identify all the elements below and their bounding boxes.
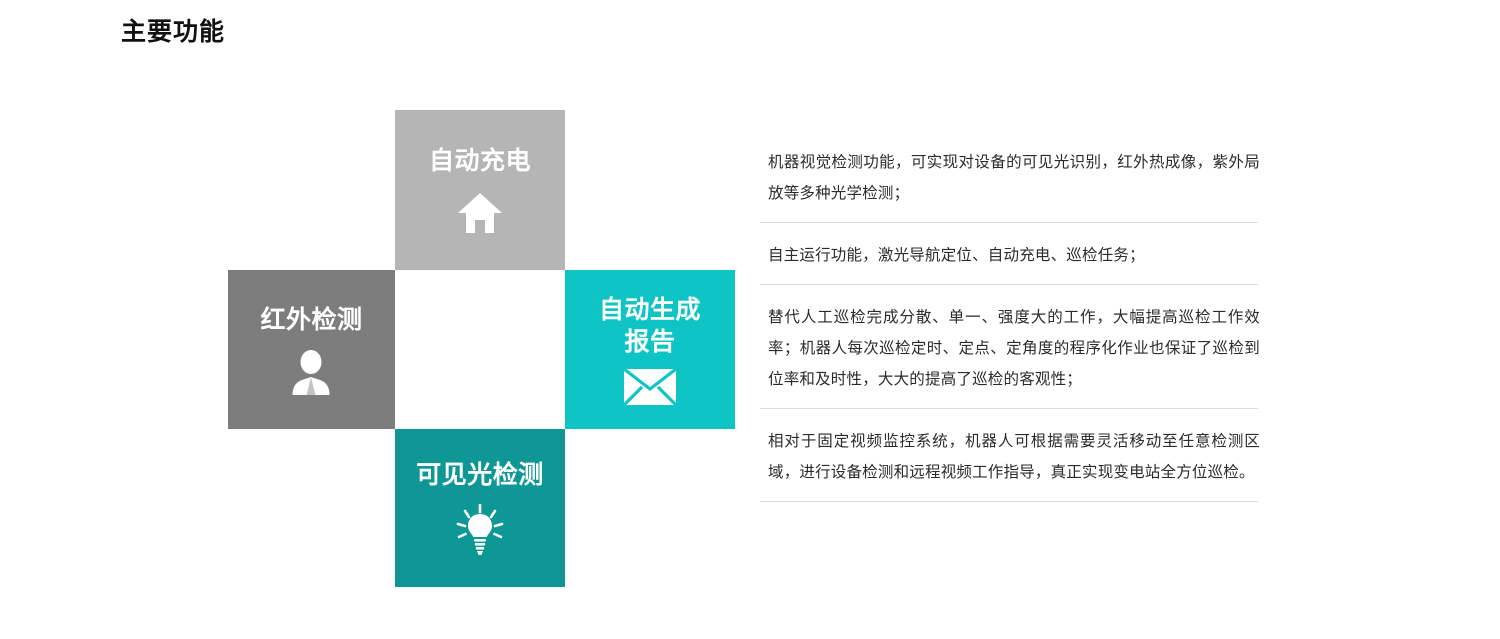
home-icon [457,191,503,235]
cross-tile-diagram: 自动充电 红外检测 自动生成 报告 [228,110,738,587]
feature-text-autonomous-operation: 自主运行功能，激光导航定位、自动充电、巡检任务； [768,240,1260,271]
tile-infrared[interactable]: 红外检测 [228,270,395,429]
tile-report-label-line2: 报告 [624,326,675,358]
feature-block-flexible-mobility: 相对于固定视频监控系统，机器人可根据需要灵活移动至任意检测区域，进行设备检测和远… [760,426,1260,488]
feature-divider-4 [760,501,1258,502]
tile-infrared-label: 红外检测 [260,304,362,336]
feature-divider-3 [760,408,1258,409]
tile-report-label-line1: 自动生成 [599,294,701,326]
tile-report[interactable]: 自动生成 报告 [565,270,735,429]
feature-description-list: 机器视觉检测功能，可实现对设备的可见光识别，红外热成像，紫外局放等多种光学检测；… [760,147,1260,519]
feature-block-machine-vision: 机器视觉检测功能，可实现对设备的可见光识别，红外热成像，紫外局放等多种光学检测； [760,147,1260,209]
lightbulb-icon [452,503,508,557]
feature-text-flexible-mobility: 相对于固定视频监控系统，机器人可根据需要灵活移动至任意检测区域，进行设备检测和远… [768,426,1260,488]
feature-divider-2 [760,284,1258,285]
tile-auto-charging-label: 自动充电 [429,145,531,177]
tile-infrared-inner: 红外检测 [260,304,362,396]
feature-divider-1 [760,222,1258,223]
tile-visible-light-label: 可见光检测 [416,459,544,491]
tile-visible-light[interactable]: 可见光检测 [395,429,565,587]
person-icon [289,350,333,396]
envelope-icon [623,368,677,406]
page-title: 主要功能 [121,17,225,47]
tile-report-inner: 自动生成 报告 [599,294,701,406]
tile-auto-charging-inner: 自动充电 [429,145,531,235]
feature-text-machine-vision: 机器视觉检测功能，可实现对设备的可见光识别，红外热成像，紫外局放等多种光学检测； [768,147,1260,209]
tile-auto-charging[interactable]: 自动充电 [395,110,565,270]
feature-text-replace-manual-inspection: 替代人工巡检完成分散、单一、强度大的工作，大幅提高巡检工作效率；机器人每次巡检定… [768,302,1260,395]
tile-visible-light-inner: 可见光检测 [416,459,544,557]
feature-block-replace-manual-inspection: 替代人工巡检完成分散、单一、强度大的工作，大幅提高巡检工作效率；机器人每次巡检定… [760,302,1260,395]
feature-block-autonomous-operation: 自主运行功能，激光导航定位、自动充电、巡检任务； [760,240,1260,271]
